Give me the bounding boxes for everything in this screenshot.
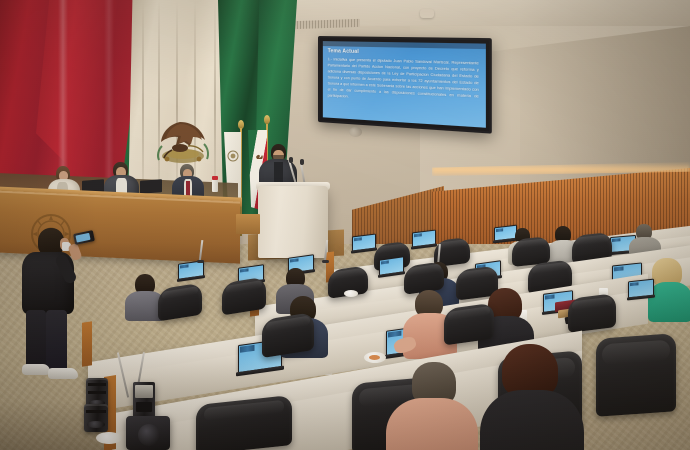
ceiling-speaker-icon	[349, 127, 362, 137]
saucer	[96, 432, 122, 444]
projection-display[interactable]: Tema Actual 1.- Iniciativa que presenta …	[318, 36, 492, 134]
presidium-laptop[interactable]	[140, 179, 162, 194]
plate-with-food	[364, 352, 386, 363]
state-seal-icon	[227, 150, 239, 162]
wall-fixture-icon	[420, 9, 434, 18]
desk-microphone-base	[322, 260, 329, 263]
chair[interactable]	[596, 333, 676, 417]
podium-mic-head	[300, 159, 304, 165]
screen-glare	[323, 41, 486, 128]
shoe	[48, 368, 78, 379]
chair[interactable]	[444, 302, 494, 345]
podium[interactable]	[258, 186, 328, 258]
side-table	[236, 214, 260, 234]
dslr-camera-body[interactable]	[126, 416, 170, 450]
camera-flash-unit[interactable]	[133, 382, 155, 418]
podium-mic-head	[289, 157, 293, 163]
camera-lens[interactable]	[84, 404, 108, 432]
chair[interactable]	[196, 395, 292, 450]
desk-microphone-base	[197, 260, 204, 263]
chamber-photo: Tema Actual 1.- Iniciativa que presenta …	[0, 0, 690, 450]
mexican-coat-of-arms-icon	[150, 112, 216, 168]
plate	[344, 290, 358, 297]
display-screen: Tema Actual 1.- Iniciativa que presenta …	[323, 41, 486, 128]
chair[interactable]	[568, 293, 616, 333]
flag-eagle-icon	[255, 152, 264, 161]
desk-row-near-endcap	[82, 321, 92, 367]
presidium-water-bottle[interactable]	[212, 176, 218, 192]
shoe	[22, 364, 50, 375]
